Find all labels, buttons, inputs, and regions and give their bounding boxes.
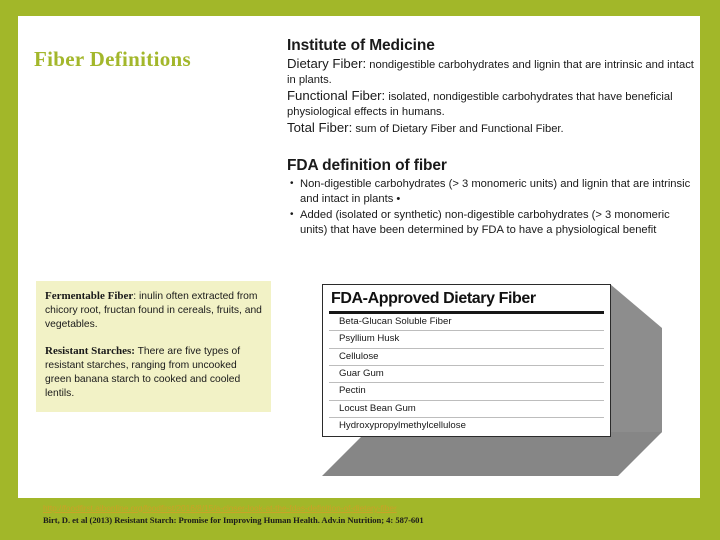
iom-heading: Institute of Medicine [287,36,697,55]
list-item-text: Non-digestible carbohydrates (> 3 monome… [300,177,697,206]
source-link[interactable]: http://foodfirst.aibonline.org/foodfirst… [43,503,683,514]
footer: http://foodfirst.aibonline.org/foodfirst… [43,503,683,526]
bullet-dot-icon: • [287,208,300,237]
table-row: Beta-Glucan Soluble Fiber [329,314,604,331]
table-row: Psyllium Husk [329,331,604,348]
fda-heading: FDA definition of fiber [287,156,697,175]
list-item-text: Added (isolated or synthetic) non-digest… [300,208,697,237]
table-row: Locust Bean Gum [329,401,604,418]
callout-item-resistant-starches: Resistant Starches: There are five types… [45,344,262,402]
table-shadow-bottom-face [322,432,662,476]
definition-total-fiber: Total Fiber: sum of Dietary Fiber and Fu… [287,120,697,137]
list-item: • Non-digestible carbohydrates (> 3 mono… [287,177,697,206]
table-title: FDA-Approved Dietary Fiber [329,290,604,314]
slide: Fiber Definitions Institute of Medicine … [0,0,720,540]
definition-term: Functional Fiber: [287,88,385,103]
callout-item-fermentable-fiber: Fermentable Fiber: inulin often extracte… [45,289,262,333]
citation-text: Birt, D. et al (2013) Resistant Starch: … [43,515,683,526]
fda-approved-fiber-graphic: FDA-Approved Dietary Fiber Beta-Glucan S… [322,284,662,476]
definition-term: Total Fiber: [287,120,352,135]
bullet-dot-icon: • [287,177,300,206]
table-row: Cellulose [329,349,604,366]
table-row: Hydroxypropylmethylcellulose [329,418,604,434]
callout-box: Fermentable Fiber: inulin often extracte… [36,281,271,412]
fda-approved-fiber-table: FDA-Approved Dietary Fiber Beta-Glucan S… [322,284,611,437]
definition-functional-fiber: Functional Fiber: isolated, nondigestibl… [287,88,697,119]
callout-term: Fermentable Fiber [45,290,133,302]
definition-dietary-fiber: Dietary Fiber: nondigestible carbohydrat… [287,56,697,87]
table-row: Pectin [329,383,604,400]
table-row: Guar Gum [329,366,604,383]
definitions-column: Institute of Medicine Dietary Fiber: non… [287,36,697,237]
definition-text: sum of Dietary Fiber and Functional Fibe… [352,123,563,135]
callout-term: Resistant Starches: [45,345,135,357]
page-title: Fiber Definitions [34,48,284,71]
definition-term: Dietary Fiber: [287,56,366,71]
list-item: • Added (isolated or synthetic) non-dige… [287,208,697,237]
